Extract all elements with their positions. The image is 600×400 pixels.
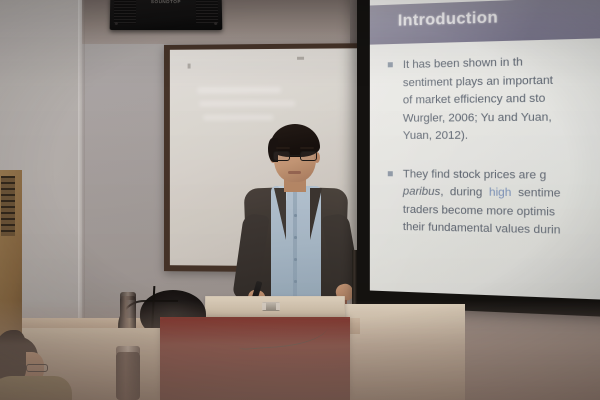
whiteboard-mark-1 bbox=[188, 64, 191, 69]
slide-bullet-1: It has been shown in th sentiment plays … bbox=[386, 51, 600, 145]
presenter-shirt-button-4 bbox=[294, 280, 297, 283]
bullet-1-line-3: of market efficiency and sto bbox=[403, 89, 600, 110]
ceiling-speaker: SOUNDTOP bbox=[110, 0, 223, 30]
classroom-photo-scene: SOUNDTOP bbox=[0, 0, 600, 400]
slide-body: It has been shown in th sentiment plays … bbox=[386, 51, 600, 260]
presenter-eyebrow-left bbox=[276, 147, 290, 149]
glasses-lens-right bbox=[300, 151, 317, 161]
whiteboard-smudge-1 bbox=[197, 87, 281, 93]
bullet-square-icon bbox=[388, 171, 393, 176]
cabinet-vent-grille bbox=[1, 176, 15, 236]
projection-screen: Introduction It has been shown in th sen… bbox=[357, 0, 600, 318]
presenter-lapel-right bbox=[310, 188, 322, 240]
presenter-shirt-placket bbox=[293, 192, 297, 302]
glasses-lens-left bbox=[273, 151, 290, 161]
presenter bbox=[228, 118, 368, 318]
bullet-2-highlight-word: high bbox=[489, 186, 511, 199]
bullet-2-line-4: their fundamental values durin bbox=[403, 219, 600, 242]
bullet-2-italic-word: paribus bbox=[403, 185, 440, 198]
glasses-icon bbox=[273, 151, 317, 161]
slide-bullet-2: They find stock prices are g paribus, du… bbox=[386, 166, 600, 243]
bullet-square-icon bbox=[388, 62, 393, 67]
speaker-brand-label: SOUNDTOP bbox=[110, 0, 222, 4]
bullet-1-line-4: Wurgler, 2006; Yu and Yuan, bbox=[403, 108, 600, 128]
glasses-bridge bbox=[290, 155, 300, 156]
presenter-lapel-left bbox=[274, 188, 286, 240]
presenter-shirt-button-2 bbox=[294, 236, 297, 239]
whiteboard-mark-2 bbox=[297, 57, 304, 60]
presenter-mouth bbox=[288, 171, 301, 174]
presenter-shirt-button-1 bbox=[294, 214, 297, 217]
bullet-1-line-5: Yuan, 2012). bbox=[403, 127, 600, 146]
slide-surface: Introduction It has been shown in th sen… bbox=[370, 0, 600, 301]
presenter-shirt-button-3 bbox=[294, 258, 297, 261]
speaker-screw-1 bbox=[115, 22, 118, 25]
whiteboard-smudge-2 bbox=[199, 101, 295, 106]
presenter-eyebrow-right bbox=[300, 147, 314, 149]
speaker-screw-2 bbox=[214, 22, 217, 25]
slide-title: Introduction bbox=[398, 9, 498, 31]
warm-floor-light bbox=[0, 300, 600, 400]
